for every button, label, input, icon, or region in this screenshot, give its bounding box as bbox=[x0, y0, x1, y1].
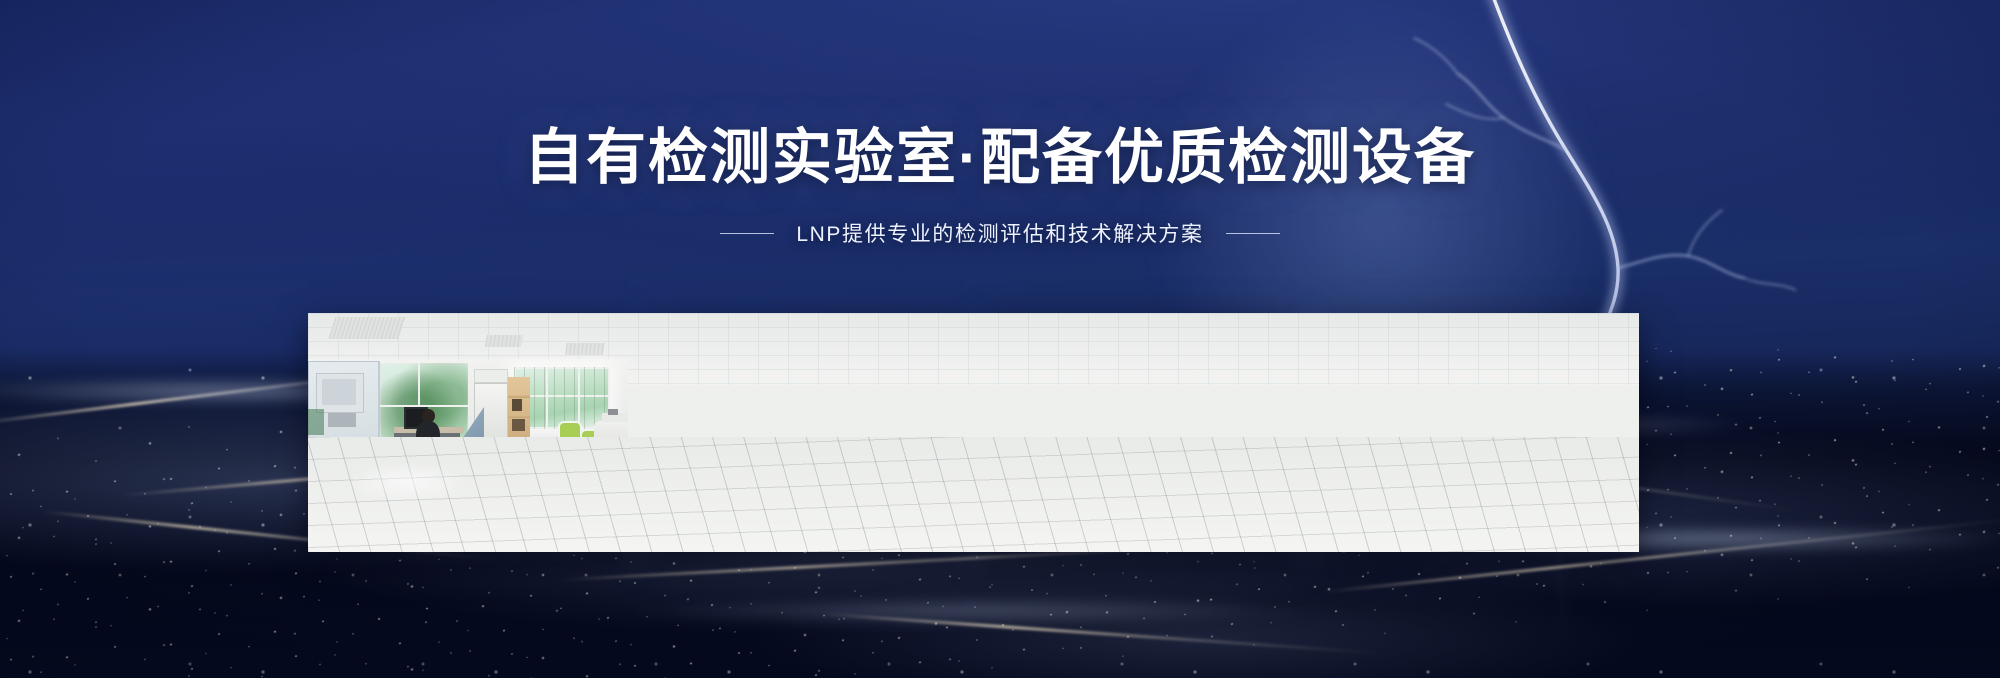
page-title: 自有检测实验室·配备优质检测设备 bbox=[0, 128, 2000, 188]
hero-banner: 自有检测实验室·配备优质检测设备 LNP提供专业的检测评估和技术解决方案 bbox=[0, 0, 2000, 678]
photo-strip: 广东雷宁普电气检测技术有限公司 Guangdong Lighting Prote… bbox=[308, 313, 1639, 552]
subtitle-row: LNP提供专业的检测评估和技术解决方案 bbox=[0, 218, 2000, 248]
rule-left-icon bbox=[720, 233, 774, 234]
photo-office bbox=[308, 313, 1639, 552]
page-subtitle: LNP提供专业的检测评估和技术解决方案 bbox=[796, 218, 1203, 248]
photo-card-office[interactable] bbox=[1319, 313, 1639, 552]
rule-right-icon bbox=[1226, 233, 1280, 234]
